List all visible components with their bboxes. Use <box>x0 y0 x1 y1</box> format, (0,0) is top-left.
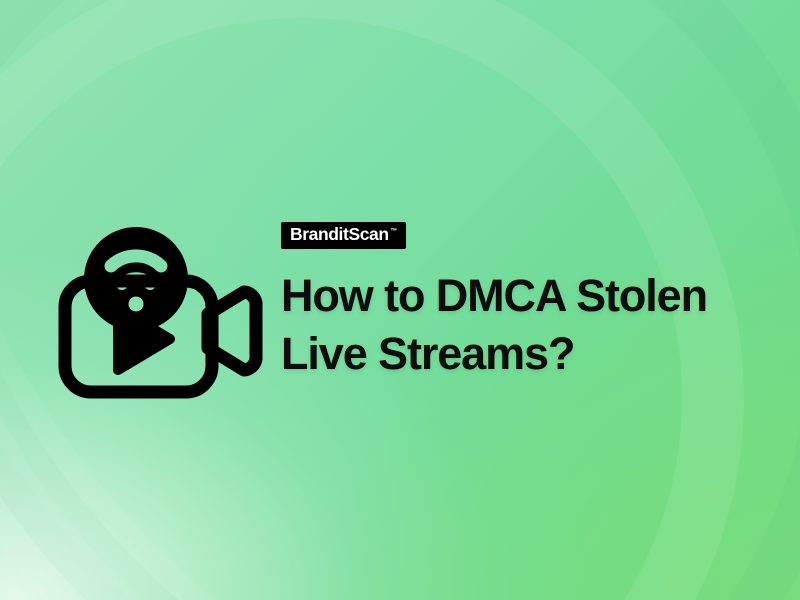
blog-cover-card: BranditScan ™ How to DMCA Stolen Live St… <box>0 0 800 600</box>
cover-content: BranditScan ™ How to DMCA Stolen Live St… <box>0 0 800 600</box>
brand-logo-label: BranditScan <box>290 226 389 244</box>
text-block: BranditScan ™ How to DMCA Stolen Live St… <box>281 222 781 383</box>
brand-logo-badge: BranditScan ™ <box>281 222 406 249</box>
live-stream-camera-icon <box>56 196 268 406</box>
trademark-icon: ™ <box>390 228 397 235</box>
page-title: How to DMCA Stolen Live Streams? <box>281 267 781 383</box>
